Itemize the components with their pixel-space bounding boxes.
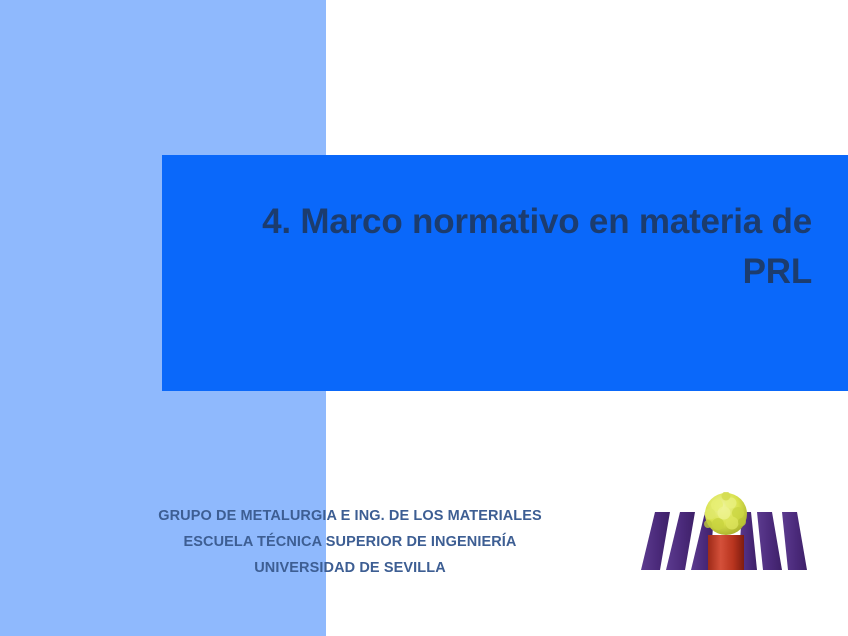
affiliation-block: GRUPO DE METALURGIA E ING. DE LOS MATERI…: [60, 503, 640, 581]
logo-crucible: [708, 535, 744, 570]
logo-graphic: [638, 492, 814, 578]
logo-left-bars: [641, 512, 714, 570]
logo-right-bars: [738, 512, 807, 570]
affiliation-line-university: UNIVERSIDAD DE SEVILLA: [60, 555, 640, 581]
university-logo: [638, 492, 814, 578]
presentation-slide: 4. Marco normativo en materia de PRL GRU…: [0, 0, 848, 636]
title-banner: 4. Marco normativo en materia de PRL: [162, 155, 848, 391]
slide-title: 4. Marco normativo en materia de PRL: [162, 155, 848, 296]
affiliation-line-school: ESCUELA TÉCNICA SUPERIOR DE INGENIERÍA: [60, 529, 640, 555]
affiliation-line-group: GRUPO DE METALURGIA E ING. DE LOS MATERI…: [60, 503, 640, 529]
